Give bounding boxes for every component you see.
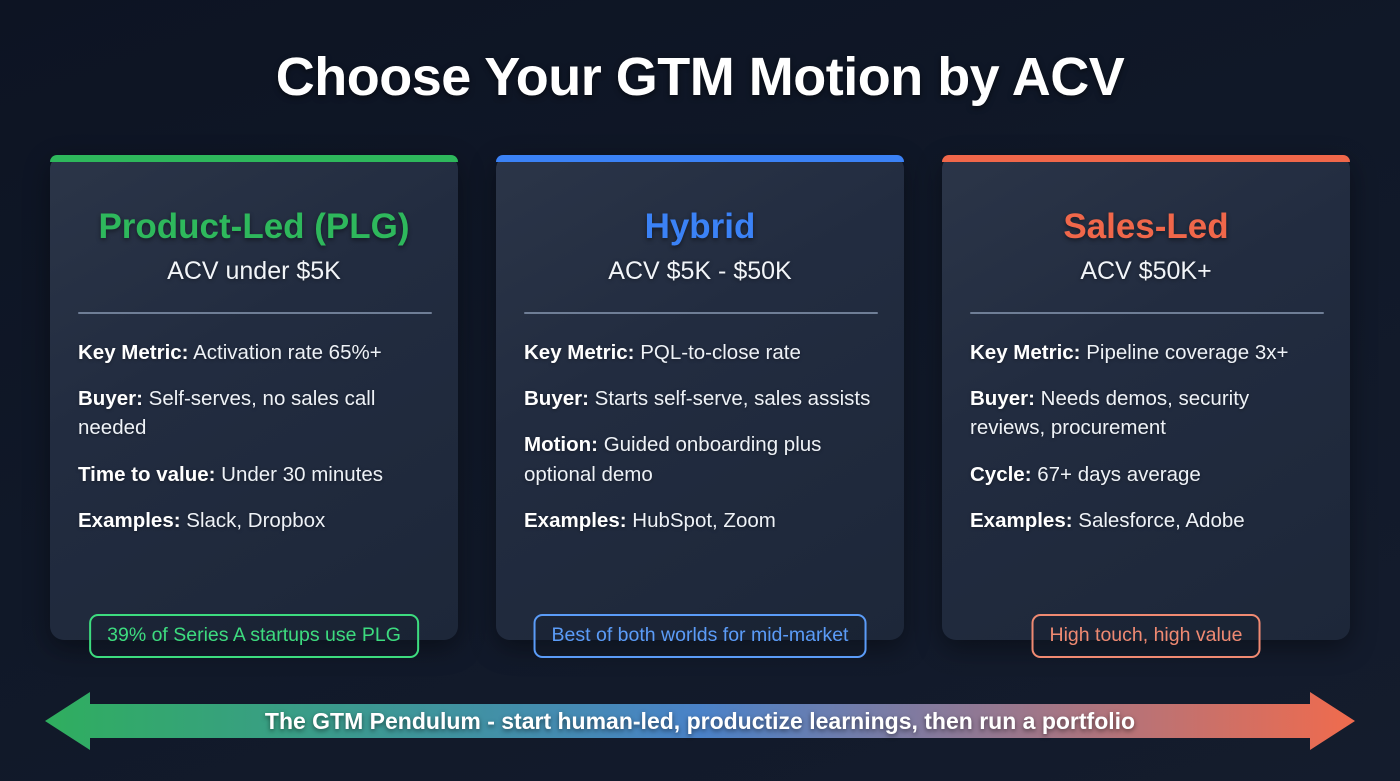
- card-subtitle-hybrid: ACV $5K - $50K: [524, 257, 876, 286]
- row-value: Pipeline coverage 3x+: [1086, 341, 1288, 364]
- row-value: 67+ days average: [1037, 463, 1201, 486]
- row-value: Under 30 minutes: [221, 463, 383, 486]
- card-row: Motion: Guided onboarding plus optional …: [524, 430, 876, 488]
- row-label: Examples:: [78, 509, 181, 532]
- card-product-led[interactable]: Product-Led (PLG) ACV under $5K Key Metr…: [50, 155, 458, 640]
- row-value: Slack, Dropbox: [186, 509, 325, 532]
- row-label: Buyer:: [524, 387, 589, 410]
- row-value: HubSpot, Zoom: [632, 509, 776, 532]
- row-label: Examples:: [970, 509, 1073, 532]
- pendulum-banner: The GTM Pendulum - start human-led, prod…: [45, 690, 1355, 752]
- row-label: Time to value:: [78, 463, 215, 486]
- card-row: Key Metric: Pipeline coverage 3x+: [970, 338, 1322, 367]
- card-badge-sales: High touch, high value: [1032, 614, 1261, 658]
- card-row: Examples: HubSpot, Zoom: [524, 506, 876, 535]
- card-sales-led[interactable]: Sales-Led ACV $50K+ Key Metric: Pipeline…: [942, 155, 1350, 640]
- row-label: Buyer:: [970, 387, 1035, 410]
- card-row: Time to value: Under 30 minutes: [78, 460, 430, 489]
- row-label: Key Metric:: [78, 341, 189, 364]
- card-row: Examples: Salesforce, Adobe: [970, 506, 1322, 535]
- card-subtitle-sales: ACV $50K+: [970, 257, 1322, 286]
- card-divider-hybrid: [524, 312, 878, 314]
- card-divider-plg: [78, 312, 432, 314]
- card-row: Buyer: Needs demos, security reviews, pr…: [970, 384, 1322, 442]
- row-label: Key Metric:: [970, 341, 1081, 364]
- row-value: Salesforce, Adobe: [1078, 509, 1244, 532]
- card-divider-sales: [970, 312, 1324, 314]
- row-value: Starts self-serve, sales assists: [595, 387, 871, 410]
- card-row: Cycle: 67+ days average: [970, 460, 1322, 489]
- card-hybrid[interactable]: Hybrid ACV $5K - $50K Key Metric: PQL-to…: [496, 155, 904, 640]
- card-row: Buyer: Self-serves, no sales call needed: [78, 384, 430, 442]
- row-value: Activation rate 65%+: [193, 341, 382, 364]
- card-badge-plg: 39% of Series A startups use PLG: [89, 614, 419, 658]
- card-title-hybrid: Hybrid: [524, 207, 876, 247]
- card-badge-hybrid: Best of both worlds for mid-market: [534, 614, 867, 658]
- card-row: Buyer: Starts self-serve, sales assists: [524, 384, 876, 413]
- card-accent-bar-hybrid: [496, 155, 904, 162]
- card-accent-bar-plg: [50, 155, 458, 162]
- gtm-motion-cards: Product-Led (PLG) ACV under $5K Key Metr…: [50, 155, 1350, 645]
- row-label: Key Metric:: [524, 341, 635, 364]
- card-row: Key Metric: PQL-to-close rate: [524, 338, 876, 367]
- page-title: Choose Your GTM Motion by ACV: [0, 46, 1400, 108]
- double-arrow-icon: [45, 690, 1355, 752]
- card-row: Key Metric: Activation rate 65%+: [78, 338, 430, 367]
- card-accent-bar-sales: [942, 155, 1350, 162]
- row-label: Motion:: [524, 433, 598, 456]
- row-label: Cycle:: [970, 463, 1032, 486]
- card-title-plg: Product-Led (PLG): [78, 207, 430, 247]
- card-rows-hybrid: Key Metric: PQL-to-close rate Buyer: Sta…: [524, 338, 876, 535]
- card-title-sales: Sales-Led: [970, 207, 1322, 247]
- row-label: Examples:: [524, 509, 627, 532]
- card-rows-plg: Key Metric: Activation rate 65%+ Buyer: …: [78, 338, 430, 535]
- row-value: PQL-to-close rate: [640, 341, 801, 364]
- card-row: Examples: Slack, Dropbox: [78, 506, 430, 535]
- card-subtitle-plg: ACV under $5K: [78, 257, 430, 286]
- card-rows-sales: Key Metric: Pipeline coverage 3x+ Buyer:…: [970, 338, 1322, 535]
- row-label: Buyer:: [78, 387, 143, 410]
